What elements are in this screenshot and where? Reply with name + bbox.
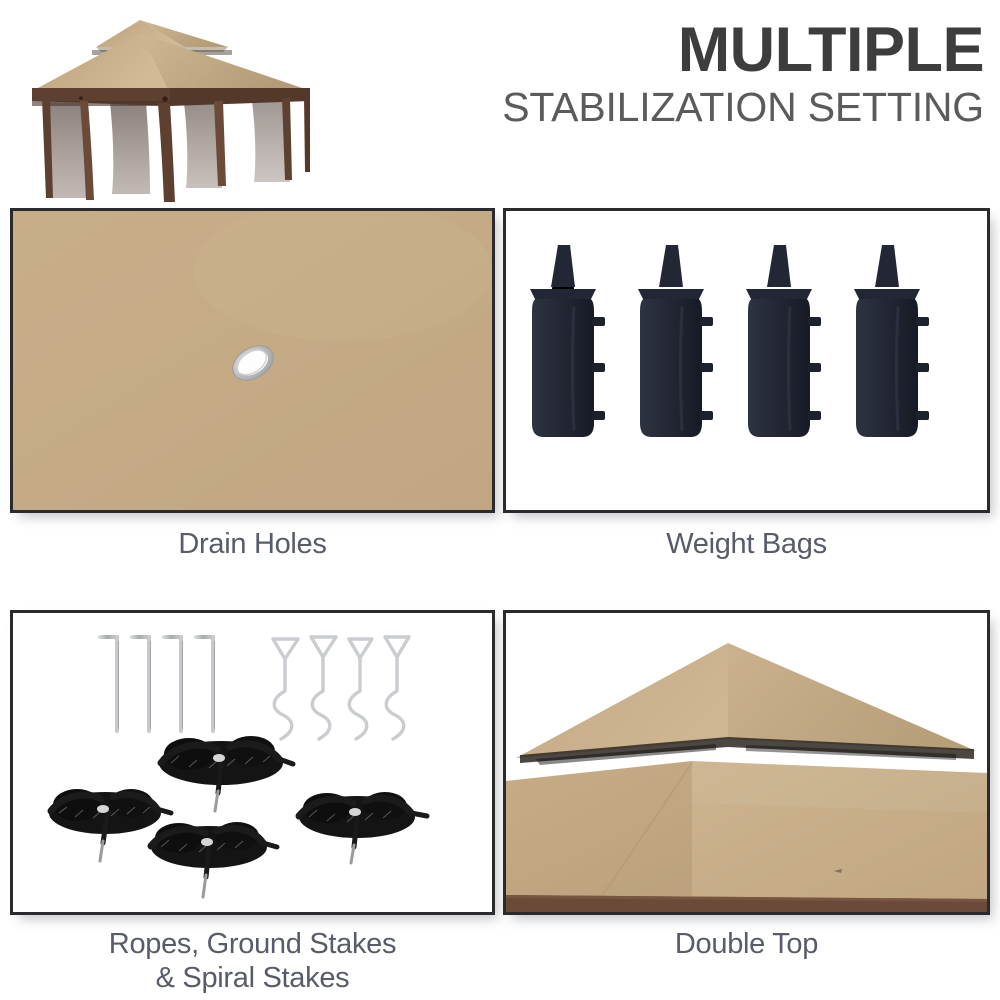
caption-ropes-stakes-line1: Ropes, Ground Stakes bbox=[10, 928, 495, 962]
page-subtitle: STABILIZATION SETTING bbox=[344, 84, 984, 131]
caption-ropes-stakes-line2: & Spiral Stakes bbox=[10, 962, 495, 996]
caption-ropes-stakes: Ropes, Ground Stakes & Spiral Stakes bbox=[10, 928, 495, 995]
ropes-stakes-photo bbox=[10, 610, 495, 915]
caption-weight-bags: Weight Bags bbox=[503, 528, 990, 562]
page-title: MULTIPLE bbox=[344, 18, 984, 82]
feature-cell-double-top: Double Top bbox=[503, 610, 990, 998]
feature-cell-weight-bags: Weight Bags bbox=[503, 208, 990, 578]
hero-gazebo-image bbox=[18, 2, 348, 202]
double-top-photo bbox=[503, 610, 990, 915]
caption-drain-holes: Drain Holes bbox=[10, 528, 495, 562]
feature-cell-ropes-stakes: Ropes, Ground Stakes & Spiral Stakes bbox=[10, 610, 495, 998]
weight-bags-photo bbox=[503, 208, 990, 513]
feature-cell-drain-holes: Drain Holes bbox=[10, 208, 495, 578]
caption-double-top: Double Top bbox=[503, 928, 990, 962]
title-block: MULTIPLE STABILIZATION SETTING bbox=[344, 18, 984, 131]
drain-holes-photo bbox=[10, 208, 495, 513]
header: MULTIPLE STABILIZATION SETTING bbox=[0, 0, 1000, 205]
